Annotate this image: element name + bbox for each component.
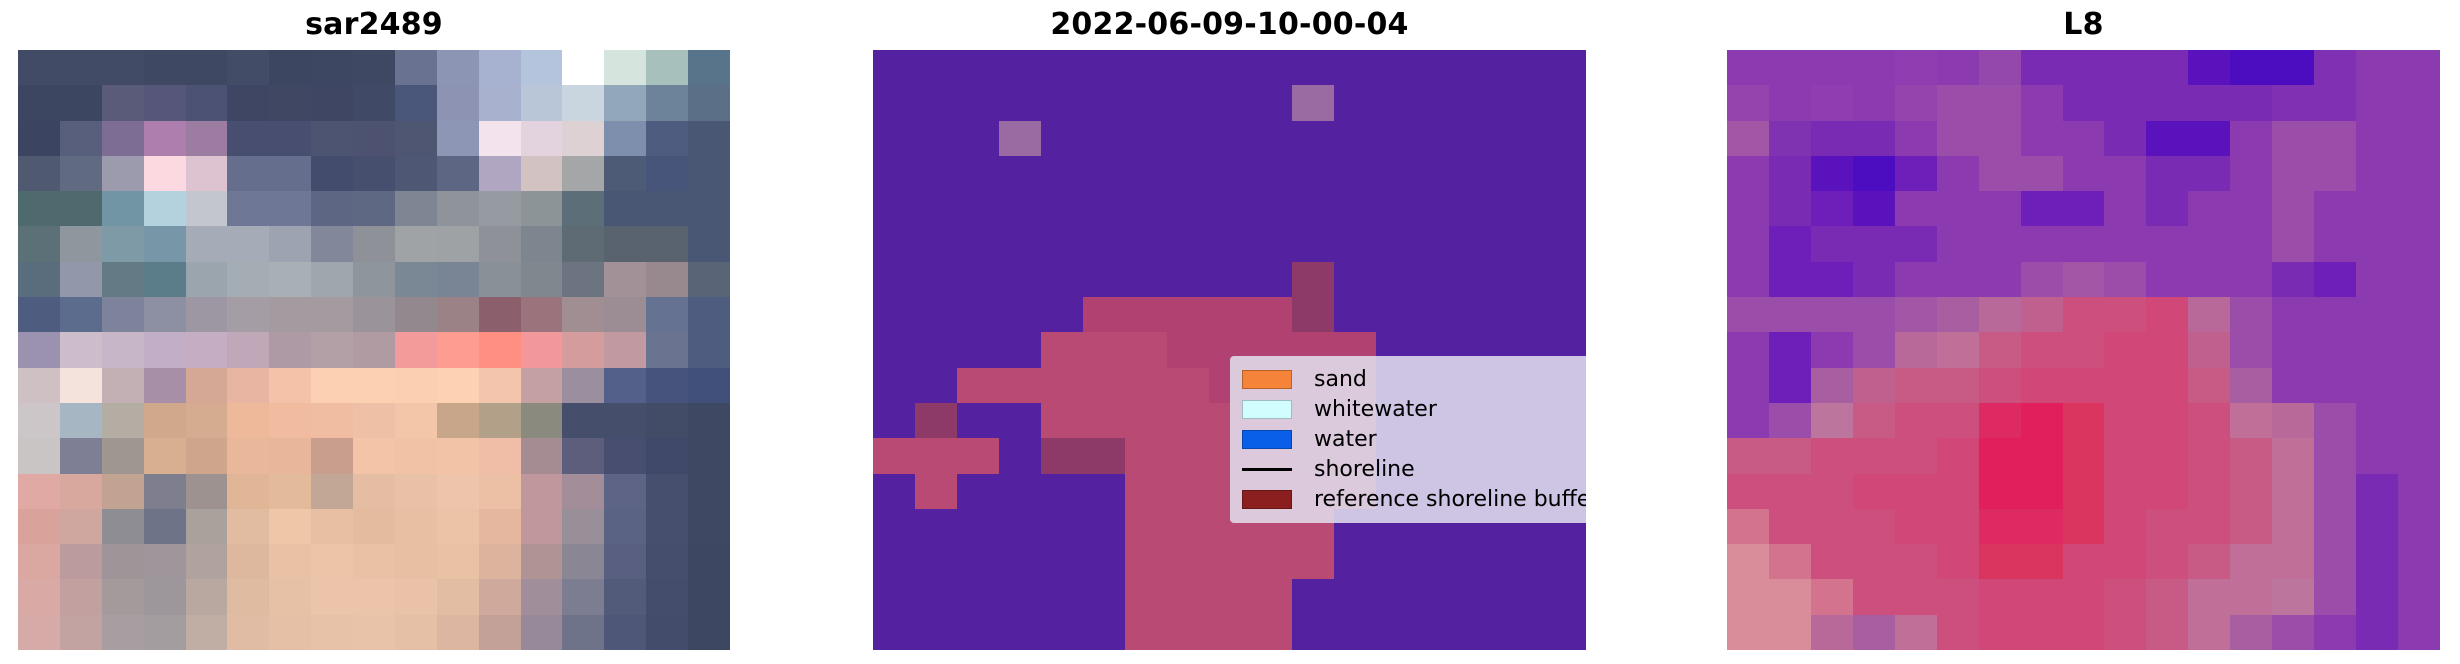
- raster-cell: [102, 121, 144, 156]
- raster-cell: [2314, 85, 2356, 120]
- raster-cell: [2230, 615, 2272, 650]
- raster-cell: [646, 474, 688, 509]
- raster-cell: [1811, 438, 1853, 473]
- raster-cell: [1502, 156, 1544, 191]
- raster-cell: [2398, 297, 2440, 332]
- raster-cell: [1250, 544, 1292, 579]
- raster-cell: [1895, 544, 1937, 579]
- raster-cell: [269, 615, 311, 650]
- raster-cell: [1769, 332, 1811, 367]
- raster-cell: [395, 579, 437, 614]
- raster-cell: [144, 262, 186, 297]
- raster-cell: [604, 615, 646, 650]
- raster-cell: [915, 438, 957, 473]
- raster-cell: [395, 226, 437, 261]
- raster-cell: [2021, 226, 2063, 261]
- raster-cell: [311, 332, 353, 367]
- raster-cell: [1418, 544, 1460, 579]
- raster-cell: [2356, 403, 2398, 438]
- raster-cell: [2314, 544, 2356, 579]
- raster-cell: [102, 368, 144, 403]
- raster-cell: [873, 156, 915, 191]
- panel-classification: 2022-06-09-10-00-04 sandwhitewaterwaters…: [873, 0, 1586, 664]
- raster-cell: [1895, 226, 1937, 261]
- raster-cell: [1209, 50, 1251, 85]
- raster-cell: [2104, 156, 2146, 191]
- raster-cell: [1376, 50, 1418, 85]
- raster-cell: [604, 509, 646, 544]
- raster-cell: [873, 297, 915, 332]
- raster-cell: [1895, 368, 1937, 403]
- raster-cell: [1292, 191, 1334, 226]
- raster-cell: [2146, 438, 2188, 473]
- raster-cell: [395, 50, 437, 85]
- panel-title-l8: L8: [1727, 8, 2440, 42]
- raster-cell: [186, 156, 228, 191]
- axes-classification: sandwhitewaterwatershorelinereference sh…: [873, 50, 1586, 650]
- raster-cell: [2146, 85, 2188, 120]
- raster-cell: [957, 509, 999, 544]
- raster-cell: [1125, 403, 1167, 438]
- raster-cell: [1895, 191, 1937, 226]
- raster-cell: [353, 579, 395, 614]
- raster-cell: [2230, 332, 2272, 367]
- raster-cell: [1544, 50, 1586, 85]
- raster-cell: [2272, 509, 2314, 544]
- raster-cell: [1041, 191, 1083, 226]
- raster-cell: [395, 156, 437, 191]
- raster-cell: [646, 121, 688, 156]
- raster-cell: [562, 368, 604, 403]
- raster-cell: [1937, 615, 1979, 650]
- raster-cell: [60, 509, 102, 544]
- raster-cell: [395, 262, 437, 297]
- raster-cell: [1502, 191, 1544, 226]
- raster-cell: [18, 121, 60, 156]
- raster-cell: [604, 544, 646, 579]
- raster-cell: [1895, 474, 1937, 509]
- raster-cell: [2272, 332, 2314, 367]
- raster-cell: [1041, 438, 1083, 473]
- raster-cell: [2356, 368, 2398, 403]
- raster-cell: [915, 297, 957, 332]
- raster-cell: [604, 579, 646, 614]
- raster-cell: [2063, 121, 2105, 156]
- raster-cell: [1727, 226, 1769, 261]
- raster-cell: [1334, 156, 1376, 191]
- raster-cell: [2398, 332, 2440, 367]
- raster-cell: [353, 403, 395, 438]
- raster-cell: [18, 85, 60, 120]
- raster-cell: [479, 579, 521, 614]
- raster-cell: [2230, 156, 2272, 191]
- raster-cell: [269, 509, 311, 544]
- raster-cell: [915, 156, 957, 191]
- raster-cell: [144, 403, 186, 438]
- raster-cell: [1041, 226, 1083, 261]
- raster-cell: [2272, 50, 2314, 85]
- raster-cell: [562, 50, 604, 85]
- legend-label: sand: [1314, 366, 1367, 393]
- raster-cell: [999, 403, 1041, 438]
- raster-cell: [1334, 262, 1376, 297]
- raster-cell: [562, 332, 604, 367]
- raster-cell: [646, 509, 688, 544]
- raster-cell: [1727, 156, 1769, 191]
- raster-cell: [1167, 50, 1209, 85]
- raster-cell: [2188, 509, 2230, 544]
- raster-cell: [144, 438, 186, 473]
- raster-cell: [227, 156, 269, 191]
- panel-l8: L8: [1727, 0, 2440, 664]
- raster-cell: [604, 403, 646, 438]
- raster-cell: [646, 50, 688, 85]
- raster-cell: [688, 438, 730, 473]
- raster-cell: [311, 226, 353, 261]
- raster-cell: [1418, 262, 1460, 297]
- legend-box: sandwhitewaterwatershorelinereference sh…: [1230, 356, 1586, 523]
- raster-cell: [144, 332, 186, 367]
- raster-cell: [1769, 474, 1811, 509]
- raster-cell: [269, 332, 311, 367]
- raster-cell: [2230, 474, 2272, 509]
- raster-cell: [2230, 121, 2272, 156]
- raster-cell: [1334, 615, 1376, 650]
- raster-cell: [227, 438, 269, 473]
- raster-cell: [999, 544, 1041, 579]
- raster-cell: [521, 474, 563, 509]
- raster-cell: [2021, 368, 2063, 403]
- raster-cell: [2314, 403, 2356, 438]
- raster-cell: [1727, 615, 1769, 650]
- raster-cell: [2314, 615, 2356, 650]
- raster-cell: [227, 403, 269, 438]
- raster-cell: [353, 226, 395, 261]
- raster-cell: [1209, 297, 1251, 332]
- raster-cell: [646, 332, 688, 367]
- raster-cell: [1041, 544, 1083, 579]
- raster-cell: [562, 121, 604, 156]
- raster-cell: [1727, 474, 1769, 509]
- raster-cell: [2314, 121, 2356, 156]
- raster-cell: [437, 509, 479, 544]
- raster-cell: [2021, 156, 2063, 191]
- raster-cell: [2356, 579, 2398, 614]
- raster-cell: [227, 474, 269, 509]
- raster-cell: [1125, 85, 1167, 120]
- raster-cell: [1937, 579, 1979, 614]
- legend-item-whitewater: whitewater: [1242, 396, 1586, 423]
- panel-title-sar: sar2489: [18, 8, 730, 42]
- raster-cell: [2356, 191, 2398, 226]
- raster-cell: [227, 332, 269, 367]
- raster-cell: [1250, 191, 1292, 226]
- raster-cell: [1811, 579, 1853, 614]
- raster-cell: [227, 297, 269, 332]
- raster-cell: [1544, 191, 1586, 226]
- raster-cell: [2314, 438, 2356, 473]
- raster-cell: [604, 368, 646, 403]
- raster-cell: [227, 544, 269, 579]
- raster-cell: [2272, 579, 2314, 614]
- raster-cell: [1125, 121, 1167, 156]
- raster-cell: [18, 544, 60, 579]
- raster-cell: [1895, 262, 1937, 297]
- raster-cell: [2104, 226, 2146, 261]
- raster-cell: [395, 509, 437, 544]
- raster-cell: [186, 332, 228, 367]
- raster-cell: [437, 191, 479, 226]
- raster-cell: [999, 615, 1041, 650]
- raster-cell: [1811, 474, 1853, 509]
- raster-cell: [1979, 544, 2021, 579]
- raster-cell: [269, 191, 311, 226]
- raster-cell: [646, 191, 688, 226]
- raster-cell: [2398, 262, 2440, 297]
- raster-cell: [1041, 403, 1083, 438]
- raster-cell: [2188, 579, 2230, 614]
- raster-cell: [1041, 615, 1083, 650]
- raster-cell: [1895, 332, 1937, 367]
- panel-title-classification: 2022-06-09-10-00-04: [873, 8, 1586, 42]
- raster-cell: [2356, 332, 2398, 367]
- raster-cell: [311, 368, 353, 403]
- raster-cell: [60, 262, 102, 297]
- raster-cell: [562, 226, 604, 261]
- raster-cell: [873, 403, 915, 438]
- raster-cell: [437, 332, 479, 367]
- raster-cell: [1979, 121, 2021, 156]
- raster-cell: [562, 509, 604, 544]
- raster-cell: [1853, 156, 1895, 191]
- raster-cell: [1811, 50, 1853, 85]
- l8-raster-image: [1727, 50, 2440, 650]
- raster-cell: [1853, 50, 1895, 85]
- raster-cell: [2021, 579, 2063, 614]
- raster-cell: [311, 156, 353, 191]
- raster-cell: [1727, 121, 1769, 156]
- raster-cell: [2021, 191, 2063, 226]
- raster-cell: [1083, 332, 1125, 367]
- raster-cell: [2146, 262, 2188, 297]
- raster-cell: [999, 85, 1041, 120]
- raster-cell: [2104, 297, 2146, 332]
- raster-cell: [1083, 615, 1125, 650]
- raster-cell: [1853, 368, 1895, 403]
- raster-cell: [999, 438, 1041, 473]
- legend-item-sand: sand: [1242, 366, 1586, 393]
- raster-cell: [2188, 121, 2230, 156]
- raster-cell: [102, 579, 144, 614]
- raster-cell: [269, 156, 311, 191]
- raster-cell: [2314, 262, 2356, 297]
- raster-cell: [1460, 156, 1502, 191]
- raster-cell: [2272, 156, 2314, 191]
- raster-cell: [562, 438, 604, 473]
- raster-cell: [1811, 544, 1853, 579]
- raster-cell: [604, 85, 646, 120]
- raster-cell: [1083, 403, 1125, 438]
- raster-cell: [1167, 544, 1209, 579]
- raster-cell: [18, 579, 60, 614]
- raster-cell: [60, 544, 102, 579]
- raster-cell: [186, 85, 228, 120]
- raster-cell: [1853, 579, 1895, 614]
- raster-cell: [353, 156, 395, 191]
- raster-cell: [688, 191, 730, 226]
- raster-cell: [1460, 297, 1502, 332]
- raster-cell: [1895, 615, 1937, 650]
- raster-cell: [2146, 50, 2188, 85]
- raster-cell: [688, 474, 730, 509]
- raster-cell: [2063, 191, 2105, 226]
- raster-cell: [2398, 368, 2440, 403]
- raster-cell: [2146, 297, 2188, 332]
- raster-cell: [562, 156, 604, 191]
- raster-cell: [2356, 156, 2398, 191]
- raster-cell: [1811, 615, 1853, 650]
- raster-cell: [1167, 156, 1209, 191]
- raster-cell: [2146, 615, 2188, 650]
- raster-cell: [1167, 121, 1209, 156]
- raster-cell: [2063, 579, 2105, 614]
- raster-cell: [1769, 579, 1811, 614]
- raster-cell: [1125, 156, 1167, 191]
- panel-sar2489: sar2489: [18, 0, 730, 664]
- raster-cell: [873, 615, 915, 650]
- raster-cell: [1979, 85, 2021, 120]
- legend-label: whitewater: [1314, 396, 1437, 423]
- raster-cell: [437, 544, 479, 579]
- raster-cell: [353, 474, 395, 509]
- raster-cell: [999, 226, 1041, 261]
- raster-cell: [2063, 544, 2105, 579]
- raster-cell: [1083, 438, 1125, 473]
- raster-cell: [144, 191, 186, 226]
- raster-cell: [1167, 85, 1209, 120]
- raster-cell: [144, 615, 186, 650]
- raster-cell: [186, 544, 228, 579]
- legend-patch-icon: [1242, 490, 1292, 509]
- raster-cell: [1125, 368, 1167, 403]
- raster-cell: [562, 262, 604, 297]
- raster-cell: [1937, 262, 1979, 297]
- raster-cell: [227, 579, 269, 614]
- raster-cell: [562, 615, 604, 650]
- raster-cell: [1334, 85, 1376, 120]
- raster-cell: [1853, 332, 1895, 367]
- legend-patch-icon: [1242, 400, 1292, 419]
- raster-cell: [437, 579, 479, 614]
- raster-cell: [2272, 403, 2314, 438]
- raster-cell: [395, 474, 437, 509]
- raster-cell: [353, 544, 395, 579]
- raster-cell: [395, 403, 437, 438]
- raster-cell: [604, 297, 646, 332]
- raster-cell: [2021, 85, 2063, 120]
- raster-cell: [479, 50, 521, 85]
- raster-cell: [102, 544, 144, 579]
- raster-cell: [227, 368, 269, 403]
- raster-cell: [1853, 262, 1895, 297]
- raster-cell: [957, 474, 999, 509]
- raster-cell: [1418, 121, 1460, 156]
- raster-cell: [437, 262, 479, 297]
- raster-cell: [395, 368, 437, 403]
- raster-cell: [1769, 156, 1811, 191]
- raster-cell: [1083, 156, 1125, 191]
- raster-cell: [1544, 579, 1586, 614]
- raster-cell: [604, 156, 646, 191]
- raster-cell: [479, 368, 521, 403]
- raster-cell: [1209, 226, 1251, 261]
- raster-cell: [1167, 615, 1209, 650]
- raster-cell: [144, 368, 186, 403]
- raster-cell: [562, 297, 604, 332]
- raster-cell: [2188, 368, 2230, 403]
- raster-cell: [1209, 615, 1251, 650]
- raster-cell: [1041, 332, 1083, 367]
- raster-cell: [2104, 544, 2146, 579]
- raster-cell: [688, 544, 730, 579]
- raster-cell: [1544, 85, 1586, 120]
- raster-cell: [102, 332, 144, 367]
- raster-cell: [999, 262, 1041, 297]
- raster-cell: [1544, 297, 1586, 332]
- raster-cell: [1811, 297, 1853, 332]
- raster-cell: [186, 262, 228, 297]
- raster-cell: [437, 615, 479, 650]
- raster-cell: [1853, 85, 1895, 120]
- raster-cell: [604, 474, 646, 509]
- raster-cell: [2146, 403, 2188, 438]
- raster-cell: [1292, 262, 1334, 297]
- raster-cell: [2146, 544, 2188, 579]
- raster-cell: [18, 262, 60, 297]
- raster-cell: [1083, 226, 1125, 261]
- raster-cell: [2188, 297, 2230, 332]
- raster-cell: [102, 615, 144, 650]
- raster-cell: [562, 403, 604, 438]
- raster-cell: [311, 121, 353, 156]
- raster-cell: [2230, 544, 2272, 579]
- raster-cell: [2272, 368, 2314, 403]
- raster-cell: [873, 544, 915, 579]
- raster-cell: [1853, 438, 1895, 473]
- raster-cell: [1727, 509, 1769, 544]
- raster-cell: [102, 191, 144, 226]
- raster-cell: [479, 226, 521, 261]
- raster-cell: [144, 50, 186, 85]
- raster-cell: [437, 50, 479, 85]
- raster-cell: [227, 191, 269, 226]
- raster-cell: [2063, 226, 2105, 261]
- raster-cell: [646, 156, 688, 191]
- raster-cell: [395, 297, 437, 332]
- raster-cell: [1937, 438, 1979, 473]
- raster-cell: [1209, 262, 1251, 297]
- raster-cell: [1769, 85, 1811, 120]
- raster-cell: [1292, 121, 1334, 156]
- raster-cell: [2314, 579, 2356, 614]
- raster-cell: [873, 121, 915, 156]
- raster-cell: [1727, 438, 1769, 473]
- raster-cell: [688, 509, 730, 544]
- legend-label: reference shoreline buffer: [1314, 486, 1586, 513]
- raster-cell: [2314, 156, 2356, 191]
- raster-cell: [2230, 438, 2272, 473]
- raster-cell: [2021, 262, 2063, 297]
